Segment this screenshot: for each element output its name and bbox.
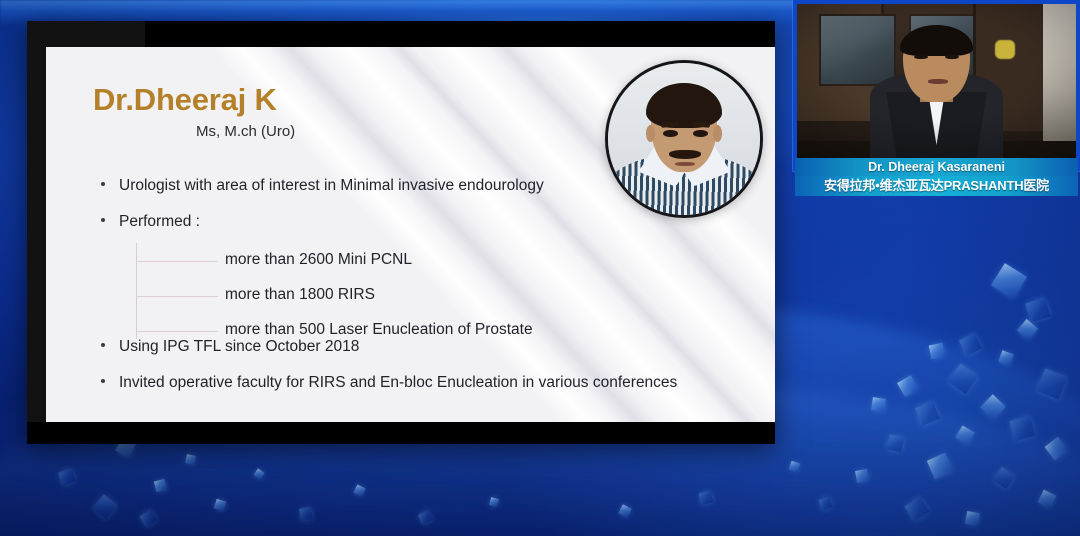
tree-trunk-line (136, 243, 137, 339)
page-title: Dr.Dheeraj K (93, 82, 277, 118)
list-item: Urologist with area of interest in Minim… (90, 175, 690, 196)
letterbox-bottom (27, 422, 775, 444)
meeting-stage: Dr.Dheeraj K Ms, M.ch (Uro) Urologist wi… (0, 0, 1080, 536)
sub-items-tree: more than 2600 Mini PCNL more than 1800 … (122, 243, 642, 341)
webcam-video[interactable] (797, 4, 1076, 167)
list-item: Performed : (90, 211, 690, 232)
presentation-slide[interactable]: Dr.Dheeraj K Ms, M.ch (Uro) Urologist wi… (46, 47, 775, 422)
list-item: Invited operative faculty for RIRS and E… (90, 372, 690, 393)
letterbox-top (145, 21, 775, 47)
shared-screen-frame[interactable]: Dr.Dheeraj K Ms, M.ch (Uro) Urologist wi… (27, 21, 775, 444)
tree-branch-line (136, 296, 218, 297)
sub-list-item: more than 500 Laser Enucleation of Prost… (225, 321, 533, 339)
participant-organization: 安得拉邦•维杰亚瓦达PRASHANTH医院 (795, 176, 1078, 196)
tree-branch-line (136, 331, 218, 332)
participant-caption: Dr. Dheeraj Kasaraneni 安得拉邦•维杰亚瓦达PRASHAN… (795, 158, 1078, 196)
webcam-panel[interactable] (793, 0, 1080, 171)
tree-branch-line (136, 261, 218, 262)
participant-name: Dr. Dheeraj Kasaraneni (795, 158, 1078, 176)
avatar (605, 60, 763, 218)
sub-list-item: more than 2600 Mini PCNL (225, 251, 412, 269)
sub-list-item: more than 1800 RIRS (225, 286, 375, 304)
page-subtitle: Ms, M.ch (Uro) (196, 123, 295, 140)
